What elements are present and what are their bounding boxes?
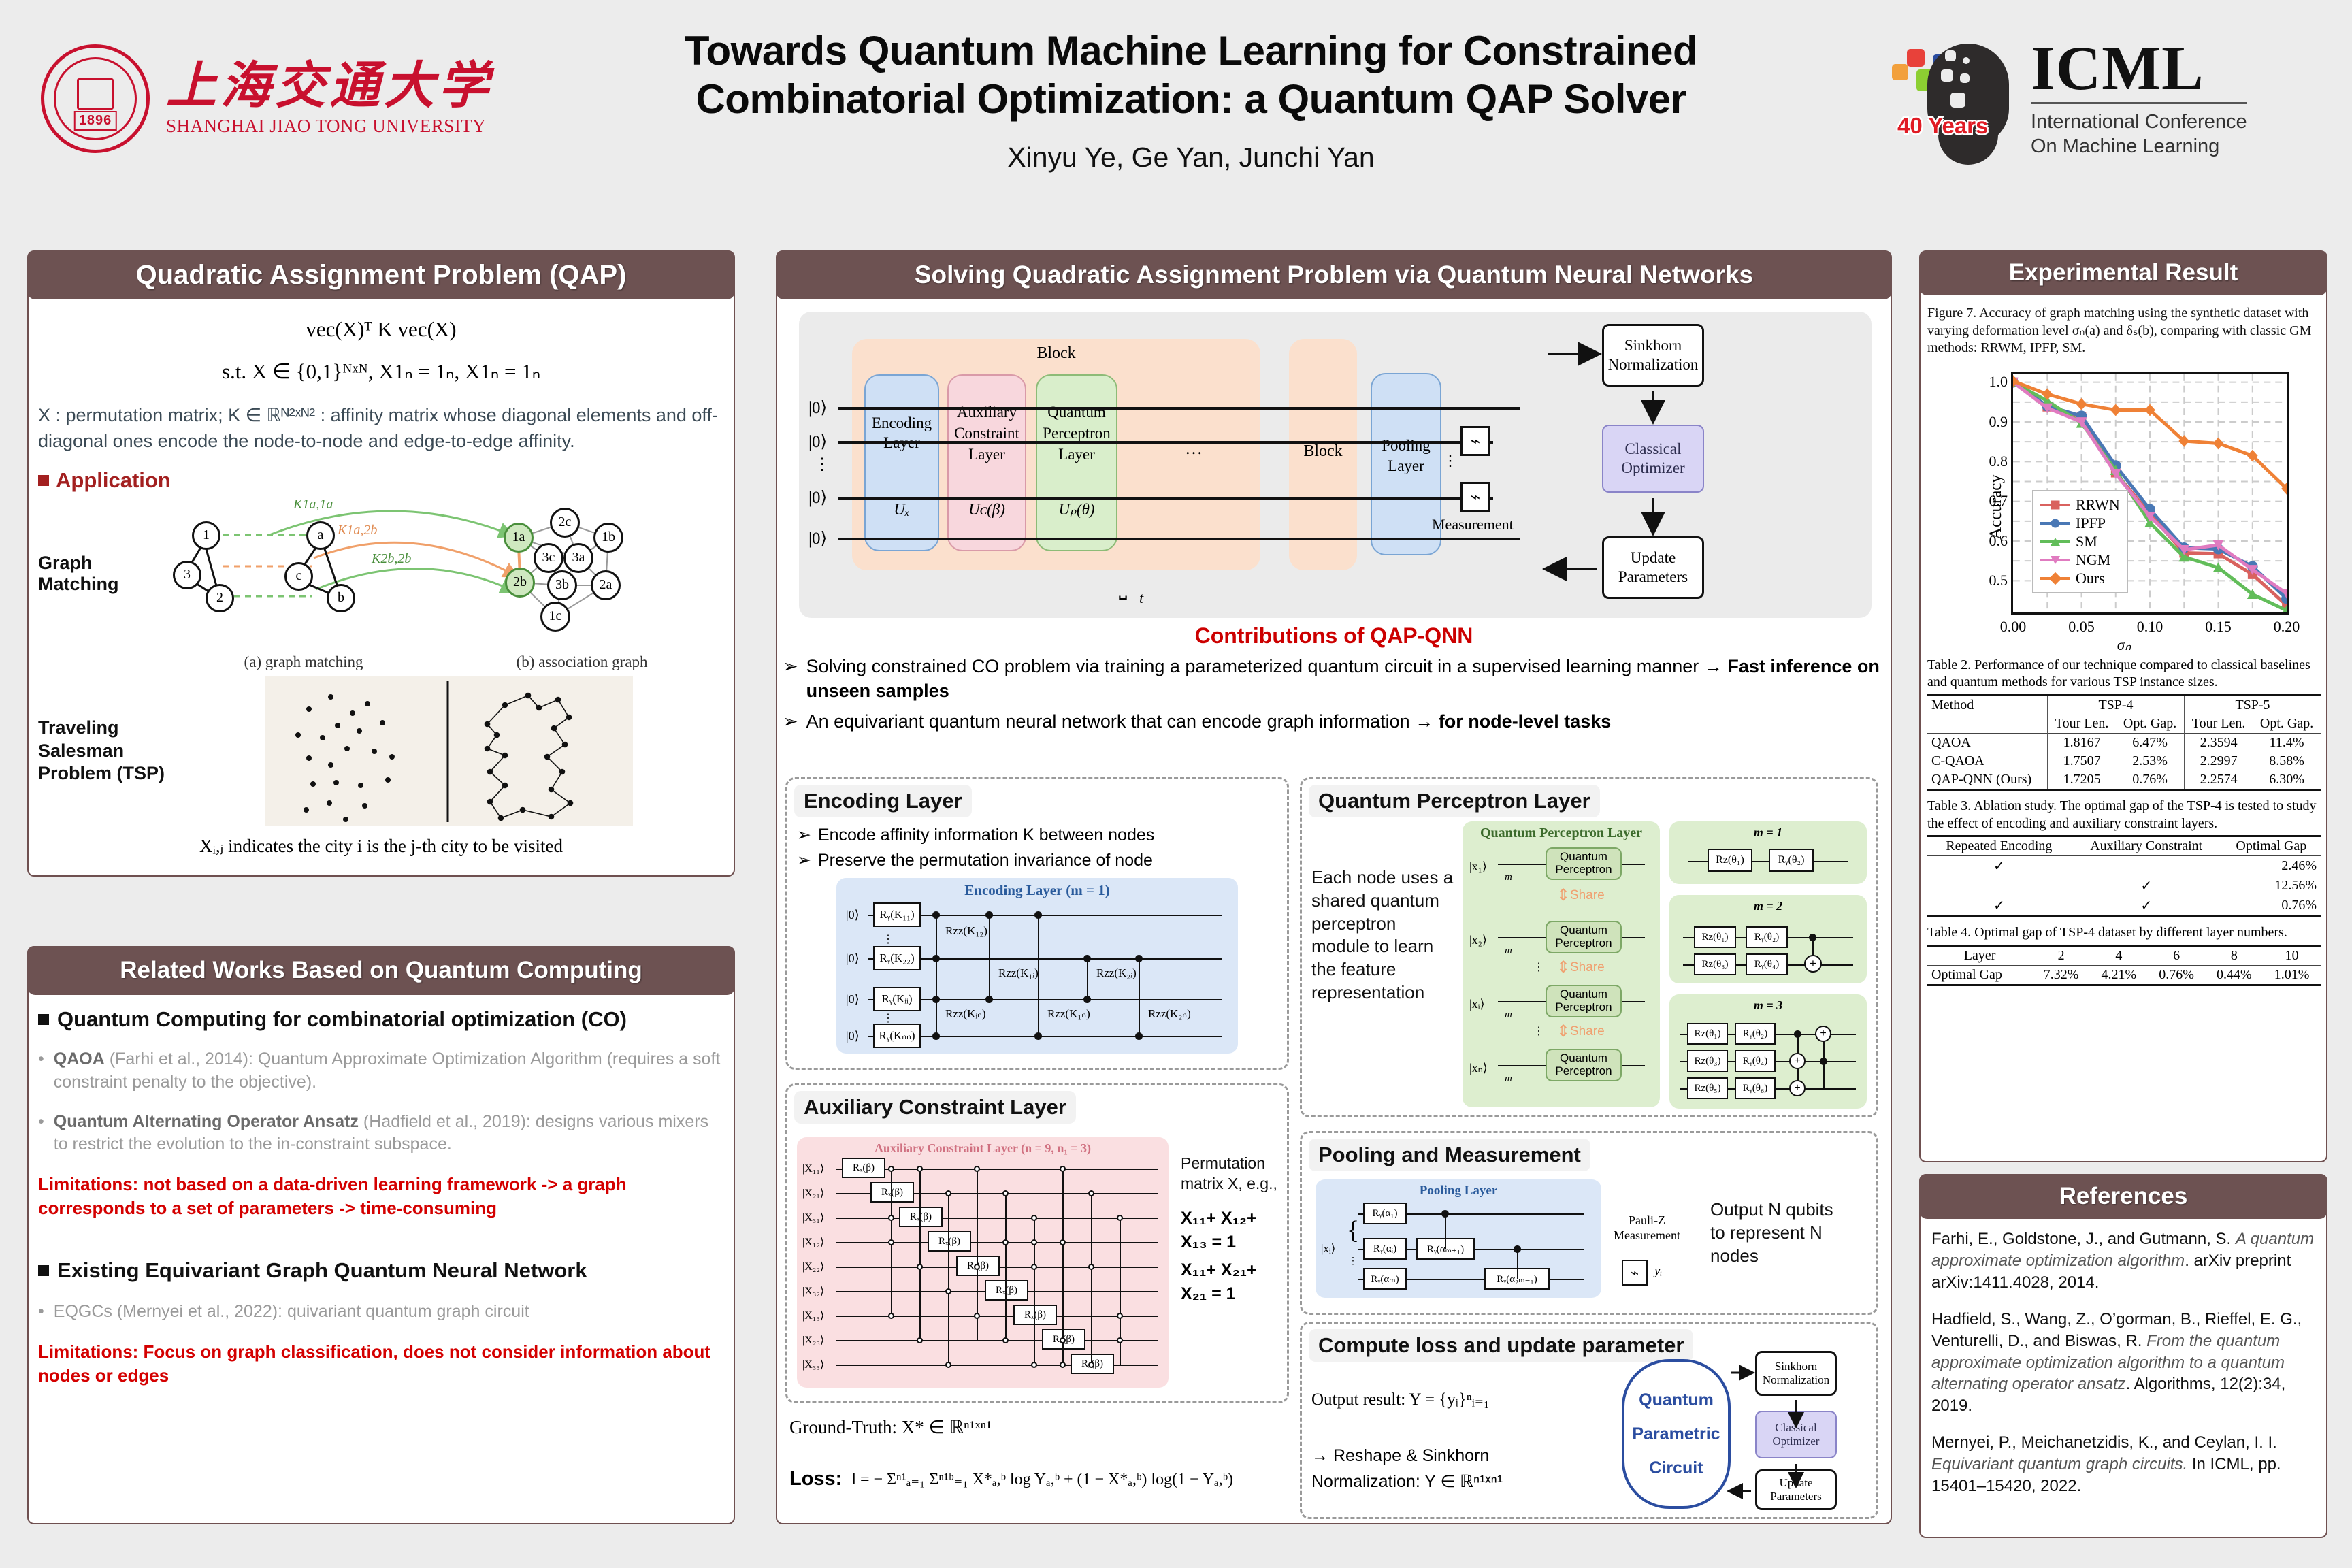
aux-ket-x33: |X₃₃⟩ [802,1358,824,1371]
references-body: Farhi, E., Goldstone, J., and Gutmann, S… [1931,1228,2317,1535]
node-1: 1 [192,521,220,550]
assoc-node-3a: 3a [563,543,593,573]
bullet-dot-icon: • [38,1111,44,1157]
t4-r0-c5: 1.01% [2263,965,2321,985]
table-row: Optimal Gap 7.32% 4.21% 0.76% 0.44% 1.01… [1927,965,2321,985]
table2: Method TSP-4 TSP-5 Tour Len. Opt. Gap. T… [1927,694,2321,791]
poster-authors: Xinyu Ye, Ge Yan, Junchi Yan [517,142,1865,174]
assoc-node-3c: 3c [534,543,563,573]
tsp-note: Xᵢ,ⱼ indicates the city i is the j-th ci… [38,836,724,857]
loss-title: Compute loss and update parameter [1309,1329,1693,1362]
tsp-figure [265,676,633,826]
perceptron-m2-circuit: m = 2 Rᴢ(θ₁) Rᵧ(θ₂) Rᴢ(θ₃) Rᵧ(θ₄) + [1669,895,1867,983]
t2-r2-c4: 6.30% [2253,770,2321,790]
legend-swatch [2040,522,2070,525]
t4-h0: Layer [1927,945,2032,965]
legend-swatch [2040,540,2070,543]
qap-qnn-architecture-figure: Block Block Encoding Layer Uₓ Auxiliary … [799,312,1872,618]
perceptron-ket-x1: |x₁⟩ [1469,860,1487,874]
t2-r0-c3: 2.3594 [2185,733,2253,752]
encoding-layer-section: Encoding Layer ➢ Encode affinity informa… [785,777,1289,1070]
encoding-gate-rzz-k2i: Rᴢᴢ(K₂ᵢ) [1096,966,1137,980]
perceptron-m-label-1: m [1505,872,1512,883]
experimental-body: Figure 7. Accuracy of graph matching usi… [1927,305,2321,1156]
t4-h3: 6 [2148,945,2206,965]
tsp-label: Traveling Salesman Problem (TSP) [38,717,174,785]
rw-section-1: Quantum Computing for combinatorial opti… [38,1007,724,1032]
table2-caption: Table 2. Performance of our technique co… [1927,657,2321,691]
t2-r0-c4: 11.4% [2253,733,2321,752]
output-result-formula: Output result: Y = {yᵢ}ⁿᵢ₌₁ [1311,1389,1597,1409]
bullet-dot-icon: • [38,1301,44,1324]
t2-r1-c0: C-QAOA [1927,752,2048,770]
vertical-dots-icon: ⋮ [1348,1222,1358,1233]
assoc-node-1a: 1a [504,523,534,553]
pooling-measurement-section: Pooling and Measurement Pooling Layer |x… [1300,1131,1878,1315]
m1-gate-rz: Rᴢ(θ₁) [1708,849,1752,872]
application-label-row: Application [38,468,724,493]
rw-bullet-ansatz-bold: Quantum Alternating Operator Ansatz [54,1112,359,1131]
permutation-note-block: Permutation matrix X, e.g., X₁₁+ X₁₂+ X₁… [1181,1154,1283,1306]
cnot-target-icon: + [1815,1026,1831,1042]
contributions-title: Contributions of QAP-QNN [783,623,1885,649]
perceptron-module-3: Quantum Perceptron [1546,985,1622,1017]
chart-xtick: 0.05 [2068,618,2095,636]
chart-plot-area: 0.50.60.70.80.91.0 0.000.050.100.150.20 … [2011,372,2289,615]
m1-title: m = 1 [1669,821,1867,840]
chart-ytick: 0.8 [1989,453,2008,470]
t2-r1-c4: 8.58% [2253,752,2321,770]
figure-caption-a: (a) graph matching [244,653,363,671]
table-row: QAP-QNN (Ours) 1.7205 0.76% 2.2574 6.30% [1927,770,2321,790]
encoding-gate-rzz-k12: Rᴢᴢ(K₁₂) [945,924,987,938]
poster-root: 上海交通大学 SHANGHAI JIAO TONG UNIVERSITY Tow… [0,0,2352,1568]
aux-ket-x11: |X₁₁⟩ [802,1162,824,1175]
aux-ket-x32: |X₃₂⟩ [802,1284,824,1298]
m3-gate-rz3: Rᴢ(θ₃) [1687,1050,1728,1072]
legend-label: Ours [2076,570,2105,587]
perceptron-module-4: Quantum Perceptron [1546,1049,1622,1081]
block-label-2: Block [1289,442,1357,461]
perceptron-module-1: Quantum Perceptron [1546,847,1622,880]
t2-h-method: Method [1927,695,2048,715]
legend-label: RRWN [2076,496,2120,514]
perceptron-ket-xn: |xₙ⟩ [1469,1061,1488,1075]
qubit-ket-1: |0⟩ [808,431,827,452]
vertical-dots-icon: ⋮ [1443,452,1458,470]
vertical-dots-icon: ⋮ [814,455,830,474]
reference-item-1: Farhi, E., Goldstone, J., and Gutmann, S… [1931,1228,2317,1294]
rw-section-1-label: Quantum Computing for combinatorial opti… [57,1007,627,1032]
rw-section-2-label: Existing Equivariant Graph Quantum Neura… [57,1258,587,1283]
t3-r1-c0 [1927,876,2071,896]
measurement-icon-1: ⌁ [1460,426,1490,456]
university-name-cn: 上海交通大学 [166,61,493,112]
t2-r1-c2: 2.53% [2116,752,2184,770]
t2-r0-c2: 6.47% [2116,733,2184,752]
pooling-gate-am: Rᵧ(αₘ) [1363,1268,1407,1290]
perceptron-layer-unitary: Uₚ(θ) [1036,501,1117,519]
encoding-bullet-1: ➢ Encode affinity information K between … [797,824,1287,847]
node-2: 2 [206,584,234,612]
bullet-square-icon [38,1014,49,1025]
auxiliary-layer-title: Auxiliary Constraint Layer [794,1091,1076,1124]
encoding-layer-circuit: Encoding Layer (m = 1) |0⟩ |0⟩ |0⟩ |0⟩ ⋮… [836,878,1238,1053]
poster-header: 上海交通大学 SHANGHAI JIAO TONG UNIVERSITY Tow… [0,0,2352,231]
m2-gate-rz1: Rᴢ(θ₁) [1694,926,1736,948]
chart-ytick: 0.9 [1989,413,2008,431]
loss-equation: l = − Σⁿ¹ₐ₌₁ Σⁿ¹ᵇ₌₁ X*ₐ,ᵇ log Yₐ,ᵇ + (1 … [851,1469,1233,1489]
node-c: c [284,562,313,591]
rw-limitation-2: Limitations: Focus on graph classificati… [38,1340,724,1388]
legend-swatch [2040,504,2070,506]
pauli-z-measurement-label: Pauli-Z Measurement [1610,1213,1684,1243]
edge-label-k1a1a: K1a,1a [293,497,333,512]
t3-r0-c2: 2.46% [2222,856,2321,877]
application-label: Application [56,468,171,493]
pooling-note: Output N qubits to represent N nodes [1710,1198,1846,1267]
aux-ket-x12: |X₁₂⟩ [802,1235,824,1249]
figure-caption-b: (b) association graph [517,653,648,671]
ground-truth-block: Ground-Truth: X* ∈ ℝⁿ¹ˣⁿ¹ Loss: l = − Σⁿ… [789,1417,1293,1490]
t2-r1-c3: 2.2997 [2185,752,2253,770]
t4-r0-c0: Optimal Gap [1927,965,2032,985]
rw-bullet-eqgc-text: EQGCs (Mernyei et al., 2022): quivariant… [54,1301,529,1324]
t3-r1-c2: 12.56% [2222,876,2321,896]
chevron-right-icon: ➢ [797,824,811,847]
measurement-icon-2: ⌁ [1460,482,1490,512]
t2-sh-1: Opt. Gap. [2116,715,2184,734]
edge-label-k1a2b: K1a,2b [338,523,377,538]
share-arrow-icon: ⇕ [1556,1022,1570,1041]
auxiliary-layer-unitary: Uᴄ(β) [947,501,1026,519]
experimental-heading: Experimental Result [1919,250,2327,295]
contribution-2-text: An equivariant quantum neural network th… [806,711,1410,732]
m2-gate-ry4: Rᵧ(θ₄) [1746,953,1788,975]
encoding-gate-rzz-k1n: Rᴢᴢ(K₁ₙ) [1047,1007,1090,1021]
encoding-ket-0: |0⟩ [846,908,860,922]
edge-label-k2b2b: K2b,2b [372,551,411,567]
legend-swatch [2040,577,2070,580]
rw-bullet-qaoa-bold: QAOA [54,1049,105,1068]
vertical-dots-icon: ⋮ [1348,1256,1358,1267]
share-label-3: Share [1570,1024,1605,1039]
pooling-circuit-title: Pooling Layer [1316,1179,1601,1198]
icml-logo: 40 Years ICML International Conference O… [1892,27,2327,170]
assoc-node-2c: 2c [550,508,580,538]
pooling-title: Pooling and Measurement [1309,1139,1590,1171]
qap-objective-formula: vec(X)ᵀ K vec(X) [38,317,724,342]
ref3-title: Equivariant quantum graph circuits. [1931,1455,2187,1473]
aux-gate-6: Rₓ(β) [985,1280,1028,1301]
pooling-ket-xi: |xᵢ⟩ [1321,1242,1335,1256]
rw-bullet-ansatz: • Quantum Alternating Operator Ansatz (H… [38,1111,724,1157]
perceptron-note: Each node uses a shared quantum perceptr… [1311,866,1454,1004]
t2-r2-c0: QAP-QNN (Ours) [1927,770,2048,790]
m3-gate-rz1: Rᴢ(θ₁) [1687,1023,1728,1045]
pooling-gate-a1: Rᵧ(α₁) [1363,1203,1407,1224]
t4-r0-c2: 4.21% [2090,965,2148,985]
permutation-eq-1: X₁₁+ X₁₂+ X₁₃ = 1 [1181,1207,1283,1254]
solving-panel-body: Block Block Encoding Layer Uₓ Auxiliary … [783,308,1885,1519]
icml-subtitle-line1: International Conference [2031,110,2247,134]
sjtu-logo: 上海交通大学 SHANGHAI JIAO TONG UNIVERSITY [41,34,504,163]
permutation-note: Permutation matrix X, e.g., [1181,1154,1283,1194]
perceptron-layer-section: Quantum Perceptron Layer Each node uses … [1300,777,1878,1117]
perceptron-ket-x2: |x₂⟩ [1469,933,1487,947]
encoding-layer-unitary: Uₓ [864,501,939,519]
chart-ytick: 0.6 [1989,532,2008,550]
aux-gate-1: Rₓ(β) [842,1158,885,1178]
perceptron-layer-title: Quantum Perceptron Layer [1309,785,1600,817]
contribution-item-1: ➢ Solving constrained CO problem via tra… [783,654,1885,704]
reshape-sinkhorn-formula: → Reshape & Sinkhorn Normalization: Y ∈ … [1311,1443,1597,1494]
references-heading: References [1919,1174,2327,1219]
pooling-output-yi: yᵢ [1654,1264,1662,1279]
university-name-en: SHANGHAI JIAO TONG UNIVERSITY [166,116,493,137]
vertical-dots-icon: ⋮ [1533,960,1544,974]
node-b: b [327,584,355,612]
aux-gate-4: Rₓ(β) [928,1231,971,1252]
t4-h1: 2 [2032,945,2090,965]
chart-legend: RRWNIPFPSMNGMOurs [2032,490,2128,593]
bullet-square-icon [38,475,49,486]
share-arrow-icon: ⇕ [1556,958,1570,977]
vertical-dots-icon: ⋮ [883,1011,894,1025]
contribution-2-highlight: → for node-level tasks [1415,711,1611,732]
encoding-layer-box-label: Encoding Layer [864,414,939,453]
chart-xtick: 0.00 [2000,618,2027,636]
t4-h5: 10 [2263,945,2321,965]
assoc-node-2a: 2a [591,570,621,600]
aux-ket-x13: |X₁₃⟩ [802,1309,824,1322]
chart-ytick: 1.0 [1989,373,2008,391]
legend-label: SM [2076,533,2097,551]
t3-r2-c2: 0.76% [2222,896,2321,917]
loss-section: Compute loss and update parameter Output… [1300,1322,1878,1519]
t3-r1-c1: ✓ [2071,876,2222,896]
repeat-count-label: t [1139,589,1143,607]
perceptron-m1-circuit: m = 1 Rᴢ(θ₁) Rᵧ(θ₂) [1669,821,1867,884]
table-row: C-QAOA 1.7507 2.53% 2.2997 8.58% [1927,752,2321,770]
title-block: Towards Quantum Machine Learning for Con… [517,27,1865,174]
vertical-dots-icon: ⋮ [1533,1024,1544,1038]
cnot-target-icon: + [1789,1053,1806,1069]
graph-matching-label: Graph Matching [38,553,167,595]
figure7-caption: Figure 7. Accuracy of graph matching usi… [1927,305,2321,357]
t2-h-tsp5: TSP-5 [2185,695,2321,715]
chart-xlabel: σₙ [2117,636,2131,654]
legend-label: NGM [2076,551,2110,569]
qap-constraint-formula: s.t. X ∈ {0,1}ᴺˣᴺ, X1ₙ = 1ₙ, X1ₙ = 1ₙ [38,359,724,384]
table-row: ✓ 12.56% [1927,876,2321,896]
qubit-ket-3: |0⟩ [808,528,827,549]
rw-bullet-eqgc: • EQGCs (Mernyei et al., 2022): quivaria… [38,1301,724,1324]
assoc-node-2b: 2b [505,568,535,598]
encoding-ket-2: |0⟩ [846,992,860,1007]
aux-gate-7: Rₓ(β) [1013,1305,1057,1325]
aux-gate-2: Rₓ(β) [870,1182,914,1203]
chart-xtick: 0.15 [2205,618,2232,636]
share-label-1: Share [1570,888,1605,903]
t2-sh-0: Tour Len. [2048,715,2117,734]
icml-40-years-label: 40 Years [1897,113,1988,139]
ground-truth-formula: Ground-Truth: X* ∈ ℝⁿ¹ˣⁿ¹ [789,1417,1293,1438]
encoding-gate-ry-k11: Rᵧ(K₁₁) [873,902,921,927]
accuracy-line-chart: Accuracy 0.50.60.70.80.91.0 0.000.050.10… [1954,364,2294,650]
perceptron-m-label-4: m [1505,1073,1512,1085]
auxiliary-layer-section: Auxiliary Constraint Layer Auxiliary Con… [785,1083,1289,1403]
table3: Repeated Encoding Auxiliary Constraint O… [1927,835,2321,917]
encoding-gate-rzz-k2n: Rᴢᴢ(K₂ₙ) [1148,1007,1191,1021]
t3-r2-c1: ✓ [2071,896,2222,917]
m3-gate-ry6: Rᵧ(θ₆) [1735,1077,1776,1099]
graph-matching-figure: K1a,1a K1a,2b K2b,2b 1 3 2 a c b 1a 2b 2… [167,495,724,652]
legend-item: Ours [2040,570,2120,587]
encoding-circuit-title: Encoding Layer (m = 1) [836,878,1238,899]
chart-ytick: 0.5 [1989,572,2008,589]
chart-ytick: 0.7 [1989,492,2008,510]
encoding-gate-rzz-k1i: Rᴢᴢ(K₁ᵢ) [998,966,1039,980]
t4-r0-c3: 0.76% [2148,965,2206,985]
encoding-gate-ry-k22: Rᵧ(K₂₂) [873,946,921,970]
assoc-node-3b: 3b [547,570,577,600]
perceptron-m3-circuit: m = 3 Rᴢ(θ₁) Rᵧ(θ₂) Rᴢ(θ₃) Rᵧ(θ₄) Rᴢ(θ₅)… [1669,994,1867,1109]
perceptron-layer-box-label: Quantum Perceptron Layer [1036,402,1117,465]
pooling-gate-ai: Rᵧ(αᵢ) [1363,1238,1407,1260]
related-works-heading: Related Works Based on Quantum Computing [27,946,735,995]
legend-item: NGM [2040,551,2120,569]
aux-ket-x21: |X₂₁⟩ [802,1186,824,1200]
encoding-ket-3: |0⟩ [846,1029,860,1043]
t4-h4: 8 [2205,945,2263,965]
perceptron-layer-circuit: Quantum Perceptron Layer |x₁⟩ |x₂⟩ |xᵢ⟩ … [1463,821,1660,1107]
node-3: 3 [173,561,201,589]
legend-swatch [2040,559,2070,561]
chevron-right-icon: ➢ [783,654,798,704]
t3-h1: Auxiliary Constraint [2071,836,2222,856]
icml-brain-icon: 40 Years [1892,34,2021,163]
bullet-dot-icon: • [38,1048,44,1094]
t3-h2: Optimal Gap [2222,836,2321,856]
m2-gate-rz3: Rᴢ(θ₃) [1694,953,1736,975]
table-row: ✓ ✓ 0.76% [1927,896,2321,917]
block-label-1: Block [852,344,1260,363]
assoc-node-1b: 1b [593,523,623,553]
table-row: QAOA 1.8167 6.47% 2.3594 11.4% [1927,733,2321,752]
chevron-right-icon: ➢ [783,709,798,734]
t2-sh-3: Opt. Gap. [2253,715,2321,734]
graph-matching-row: Graph Matching [38,495,724,652]
t4-r0-c1: 7.32% [2032,965,2090,985]
t2-r0-c1: 1.8167 [2048,733,2117,752]
table-row: ✓ 2.46% [1927,856,2321,877]
quantum-parametric-circuit-box: Quantum Parametric Circuit [1622,1359,1731,1509]
table3-caption: Table 3. Ablation study. The optimal gap… [1927,798,2321,832]
rw-bullet-qaoa-text: (Farhi et al., 2014): Quantum Approximat… [54,1049,721,1092]
t3-r0-c0: ✓ [1927,856,2071,877]
t3-r2-c0: ✓ [1927,896,2071,917]
qubit-ket-2: |0⟩ [808,487,827,508]
legend-item: IPFP [2040,514,2120,532]
m3-gate-ry2: Rᵧ(θ₂) [1735,1023,1776,1045]
loss-label: Loss: [789,1468,842,1490]
legend-label: IPFP [2076,514,2106,532]
auxiliary-layer-box-label: Auxiliary Constraint Layer [947,402,1026,465]
related-works-body: Quantum Computing for combinatorial opti… [38,1007,724,1518]
permutation-eq-2: X₁₁+ X₂₁+ X₂₁ = 1 [1181,1258,1283,1306]
poster-title-line1: Towards Quantum Machine Learning for Con… [517,27,1865,76]
measurement-icon: ⌁ [1622,1260,1648,1286]
contribution-item-2: ➢ An equivariant quantum neural network … [783,709,1885,734]
solving-panel-heading: Solving Quadratic Assignment Problem via… [776,250,1892,299]
qubit-ket-0: |0⟩ [808,397,827,418]
contribution-1-text: Solving constrained CO problem via train… [806,656,1699,676]
cnot-target-icon: + [1789,1080,1806,1096]
t2-r1-c1: 1.7507 [2048,752,2117,770]
chart-xtick: 0.10 [2137,618,2163,636]
t2-r2-c1: 1.7205 [2048,770,2117,790]
table4-caption: Table 4. Optimal gap of TSP-4 dataset by… [1927,924,2321,942]
chevron-right-icon: ➢ [797,849,811,872]
encoding-ket-1: |0⟩ [846,951,860,966]
encoding-gate-ry-kii: Rᵧ(Kᵢᵢ) [873,987,921,1011]
icml-acronym: ICML [2031,39,2247,98]
encoding-bullet-2: ➢ Preserve the permutation invariance of… [797,849,1287,872]
poster-title-line2: Combinatorial Optimization: a Quantum QA… [517,76,1865,124]
t2-h-tsp4: TSP-4 [2048,695,2185,715]
t2-r2-c2: 0.76% [2116,770,2184,790]
icml-subtitle-line2: On Machine Learning [2031,134,2247,159]
auxiliary-layer-circuit: Auxiliary Constraint Layer (n = 9, n₁ = … [797,1137,1169,1388]
ref3-authors: Mernyei, P., Meichanetzidis, K., and Cey… [1931,1433,2277,1452]
pooling-layer-circuit: Pooling Layer |xᵢ⟩ { Rᵧ(α₁) Rᵧ(αᵢ) Rᵧ(αₘ… [1316,1179,1601,1298]
legend-item: SM [2040,533,2120,551]
perceptron-module-2: Quantum Perceptron [1546,921,1622,953]
share-label-2: Share [1570,960,1605,975]
rw-limitation-1: Limitations: not based on a data-driven … [38,1173,724,1220]
t2-r2-c3: 2.2574 [2185,770,2253,790]
t2-sh-2: Tour Len. [2185,715,2253,734]
perceptron-ket-xi: |xᵢ⟩ [1469,997,1485,1011]
cnot-target-icon: + [1804,955,1822,973]
m3-gate-ry4: Rᵧ(θ₄) [1735,1050,1776,1072]
m1-gate-ry: Rᵧ(θ₂) [1769,849,1814,872]
auxiliary-circuit-title: Auxiliary Constraint Layer (n = 9, n₁ = … [797,1137,1169,1156]
qap-panel-body: vec(X)ᵀ K vec(X) s.t. X ∈ {0,1}ᴺˣᴺ, X1ₙ … [38,308,724,872]
t4-r0-c4: 0.44% [2205,965,2263,985]
vertical-dots-icon: ⋮ [883,932,894,946]
m2-gate-ry2: Rᵧ(θ₂) [1746,926,1788,948]
m2-title: m = 2 [1669,895,1867,913]
chart-xtick: 0.20 [2274,618,2300,636]
reference-item-2: Hadfield, S., Wang, Z., O’gorman, B., Ri… [1931,1309,2317,1418]
rw-bullet-qaoa: • QAOA (Farhi et al., 2014): Quantum App… [38,1048,724,1094]
t4-h2: 4 [2090,945,2148,965]
t3-h0: Repeated Encoding [1927,836,2071,856]
t2-r0-c0: QAOA [1927,733,2048,752]
encoding-gate-ry-knn: Rᵧ(Kₙₙ) [873,1024,921,1048]
reference-item-3: Mernyei, P., Meichanetzidis, K., and Cey… [1931,1432,2317,1497]
assoc-node-1c: 1c [540,602,570,632]
encoding-gate-rzz-kin: Rᴢᴢ(Kᵢₙ) [945,1007,986,1021]
rw-section-2: Existing Equivariant Graph Quantum Neura… [38,1258,724,1283]
qap-panel-heading: Quadratic Assignment Problem (QAP) [27,250,735,299]
sjtu-seal-icon [41,44,150,153]
aux-ket-x23: |X₂₃⟩ [802,1333,824,1347]
m3-title: m = 3 [1669,994,1867,1013]
ref1-authors: Farhi, E., Goldstone, J., and Gutmann, S… [1931,1230,2236,1248]
